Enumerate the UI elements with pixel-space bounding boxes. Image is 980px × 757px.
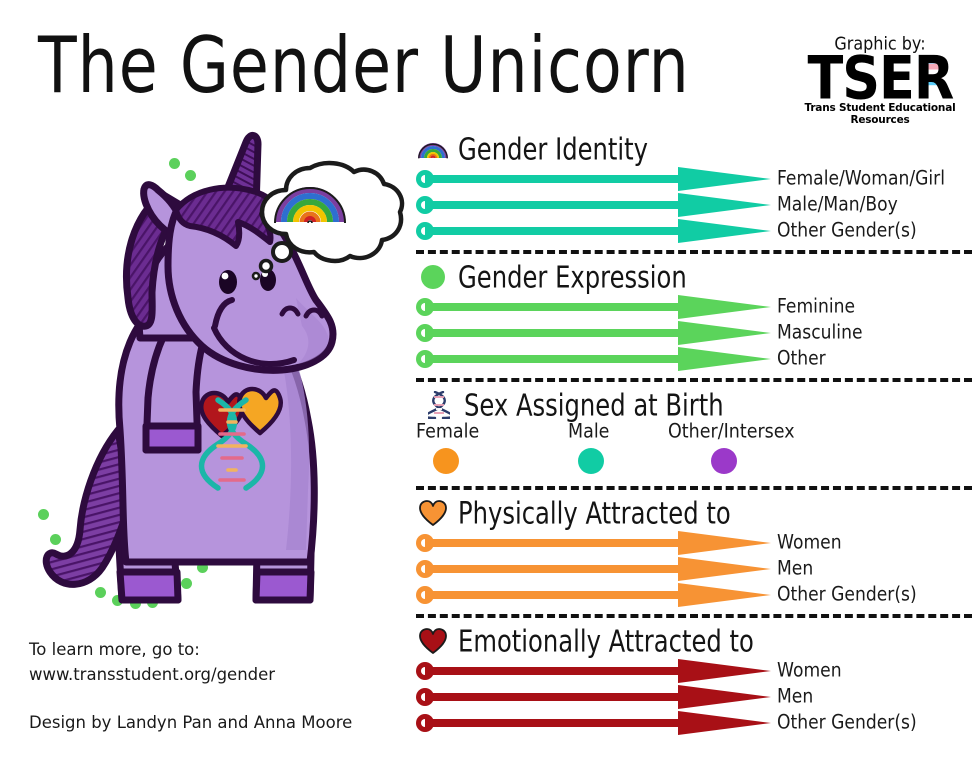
- section-header: Sex Assigned at Birth: [416, 388, 972, 422]
- spectrum-rows: Female/Woman/Girl Male/Man/Boy: [416, 166, 972, 244]
- arrow-head-icon: [678, 659, 771, 683]
- spectrum-row[interactable]: Other Gender(s): [416, 582, 972, 608]
- arrow-head-icon: [678, 531, 771, 555]
- arrow-head-icon: [678, 167, 771, 191]
- spectrum-row-label: Men: [777, 558, 813, 581]
- spectrum-arrow: [416, 294, 771, 320]
- arrow-head-icon: [678, 583, 771, 607]
- spectrum-row[interactable]: Other Gender(s): [416, 710, 972, 736]
- green-circle-icon: [416, 262, 450, 292]
- section-divider: [416, 378, 972, 382]
- arrow-shaft: [425, 227, 685, 235]
- arrow-shaft: [425, 303, 685, 311]
- section-emotionally-attracted-to: Emotionally Attracted to Women: [416, 624, 972, 736]
- spectrum-row-label: Female/Woman/Girl: [777, 168, 945, 191]
- section-title: Gender Expression: [458, 260, 687, 295]
- arrow-shaft: [425, 175, 685, 183]
- tser-wordmark: TSER: [807, 50, 953, 105]
- spectrum-row-label: Masculine: [777, 322, 863, 345]
- spectrum-row-label: Other Gender(s): [777, 220, 917, 243]
- arrow-head-icon: [678, 557, 771, 581]
- section-divider: [416, 614, 972, 618]
- spectrum-row[interactable]: Male/Man/Boy: [416, 192, 972, 218]
- sab-label-intersex: Other/Intersex: [668, 421, 795, 444]
- spectrum-row[interactable]: Men: [416, 684, 972, 710]
- spectrum-arrow: [416, 658, 771, 684]
- section-sex-assigned-at-birth: Sex Assigned at Birth Female Male Other/…: [416, 388, 972, 480]
- transstudent-url[interactable]: www.transstudent.org/gender: [29, 663, 275, 688]
- spectrum-arrow: [416, 582, 771, 608]
- section-title: Gender Identity: [458, 132, 648, 167]
- arrow-shaft: [425, 719, 685, 727]
- spectrum-arrow: [416, 166, 771, 192]
- arrow-shaft: [425, 565, 685, 573]
- section-gender-identity: Gender Identity Female/Woman/Girl: [416, 132, 972, 244]
- design-credit: Design by Landyn Pan and Anna Moore: [29, 713, 352, 732]
- arrow-shaft: [425, 667, 685, 675]
- dna-icon: [422, 390, 456, 420]
- arrow-head-icon: [678, 295, 771, 319]
- spectrum-row-label: Women: [777, 660, 842, 683]
- sab-option-labels: Female Male Other/Intersex: [416, 422, 972, 446]
- rainbow-icon: [416, 134, 450, 164]
- section-divider: [416, 486, 972, 490]
- spectrum-row[interactable]: Feminine: [416, 294, 972, 320]
- arrow-shaft: [425, 591, 685, 599]
- sab-label-female: Female: [416, 421, 479, 444]
- spectrum-row-label: Feminine: [777, 296, 855, 319]
- arrow-head-icon: [678, 711, 771, 735]
- spectrum-arrow: [416, 320, 771, 346]
- arrow-shaft: [425, 201, 685, 209]
- spectrum-arrow: [416, 710, 771, 736]
- section-title: Physically Attracted to: [458, 496, 731, 531]
- unicorn-illustration: [10, 130, 420, 620]
- spectrum-arrow: [416, 218, 771, 244]
- spectrum-rows: Women Men Other Gender: [416, 658, 972, 736]
- spectrum-row-label: Other Gender(s): [777, 712, 917, 735]
- tser-logo-block: Graphic by: TSER Trans Student Education…: [790, 34, 970, 126]
- spectrum-row-label: Other: [777, 348, 826, 371]
- section-gender-expression: Gender Expression Feminine: [416, 260, 972, 372]
- sab-label-male: Male: [568, 421, 609, 444]
- spectrum-row[interactable]: Women: [416, 530, 972, 556]
- section-header: Physically Attracted to: [416, 496, 972, 530]
- tser-letter-s: S: [842, 43, 879, 113]
- section-physically-attracted-to: Physically Attracted to Women: [416, 496, 972, 608]
- sab-dot-female[interactable]: [433, 448, 459, 474]
- tser-letter-r: R: [913, 43, 952, 113]
- tser-letter-t: T: [807, 43, 842, 113]
- sab-option-dots: [416, 446, 972, 480]
- arrow-head-icon: [678, 193, 771, 217]
- arrow-shaft: [425, 329, 685, 337]
- arrow-shaft: [425, 539, 685, 547]
- spectrum-row[interactable]: Other Gender(s): [416, 218, 972, 244]
- arrow-head-icon: [678, 219, 771, 243]
- section-header: Gender Identity: [416, 132, 972, 166]
- arrow-shaft: [425, 355, 685, 363]
- arrow-head-icon: [678, 321, 771, 345]
- spectrum-column: Gender Identity Female/Woman/Girl: [416, 132, 972, 736]
- tser-letter-r-with-flag: R: [913, 50, 952, 105]
- section-title: Sex Assigned at Birth: [464, 388, 724, 423]
- tser-letter-e: E: [879, 43, 914, 113]
- arrow-head-icon: [678, 347, 771, 371]
- spectrum-row-label: Other Gender(s): [777, 584, 917, 607]
- spectrum-row[interactable]: Women: [416, 658, 972, 684]
- spectrum-rows: Women Men Other Gender: [416, 530, 972, 608]
- spectrum-row[interactable]: Female/Woman/Girl: [416, 166, 972, 192]
- section-header: Emotionally Attracted to: [416, 624, 972, 658]
- spectrum-arrow: [416, 346, 771, 372]
- spectrum-row[interactable]: Men: [416, 556, 972, 582]
- section-title: Emotionally Attracted to: [458, 624, 754, 659]
- section-divider: [416, 250, 972, 254]
- arrow-shaft: [425, 693, 685, 701]
- spectrum-row-label: Men: [777, 686, 813, 709]
- spectrum-row[interactable]: Other: [416, 346, 972, 372]
- orange-heart-icon: [416, 498, 450, 528]
- learn-more-block: To learn more, go to: www.transstudent.o…: [29, 638, 275, 688]
- spectrum-arrow: [416, 684, 771, 710]
- spectrum-arrow: [416, 556, 771, 582]
- learn-more-label: To learn more, go to:: [29, 638, 275, 663]
- red-heart-icon: [416, 626, 450, 656]
- section-header: Gender Expression: [416, 260, 972, 294]
- spectrum-arrow: [416, 192, 771, 218]
- spectrum-row-label: Women: [777, 532, 842, 555]
- sab-dot-male[interactable]: [578, 448, 604, 474]
- spectrum-row-label: Male/Man/Boy: [777, 194, 898, 217]
- arrow-head-icon: [678, 685, 771, 709]
- sab-dot-intersex[interactable]: [711, 448, 737, 474]
- spectrum-row[interactable]: Masculine: [416, 320, 972, 346]
- gender-unicorn-poster: The Gender Unicorn Graphic by: TSER Tran…: [0, 0, 980, 757]
- spectrum-arrow: [416, 530, 771, 556]
- page-title: The Gender Unicorn: [38, 20, 690, 111]
- spectrum-rows: Feminine Masculine Oth: [416, 294, 972, 372]
